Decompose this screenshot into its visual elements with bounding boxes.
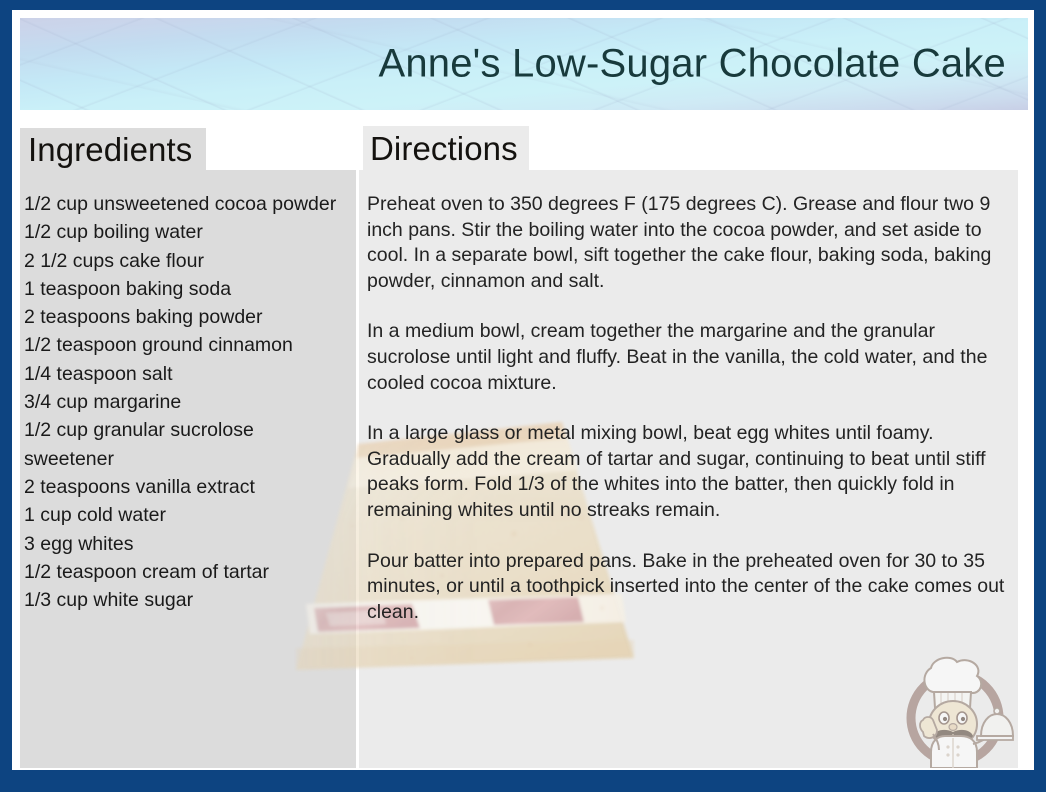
direction-step: Pour batter into prepared pans. Bake in … (367, 549, 1015, 626)
directions-header-tab: Directions (363, 126, 529, 170)
directions-steps: Preheat oven to 350 degrees F (175 degre… (367, 192, 1015, 625)
directions-heading: Directions (370, 132, 518, 165)
ingredient-item: 2 teaspoons vanilla extract (24, 473, 342, 501)
page-title: Anne's Low-Sugar Chocolate Cake (378, 42, 1006, 87)
ingredient-item: 1/4 teaspoon salt (24, 360, 342, 388)
direction-step: In a large glass or metal mixing bowl, b… (367, 421, 1015, 523)
ingredient-item: 1/2 cup unsweetened cocoa powder (24, 190, 342, 218)
ingredient-item: 1 teaspoon baking soda (24, 275, 342, 303)
ingredient-item: 1/2 cup granular sucrolose sweetener (24, 416, 342, 473)
ingredient-item: 1/2 teaspoon cream of tartar (24, 558, 342, 586)
ingredient-item: 1/2 teaspoon ground cinnamon (24, 331, 342, 359)
ingredients-list: 1/2 cup unsweetened cocoa powder1/2 cup … (24, 190, 342, 614)
title-banner: Anne's Low-Sugar Chocolate Cake (20, 18, 1028, 110)
ingredient-item: 1/3 cup white sugar (24, 586, 342, 614)
ingredient-item: 2 teaspoons baking powder (24, 303, 342, 331)
ingredient-item: 3 egg whites (24, 530, 342, 558)
page-frame: Anne's Low-Sugar Chocolate Cake Ingredie… (0, 0, 1046, 792)
ingredients-heading: Ingredients (28, 133, 192, 166)
ingredient-item: 1 cup cold water (24, 501, 342, 529)
ingredient-item: 2 1/2 cups cake flour (24, 247, 342, 275)
direction-step: Preheat oven to 350 degrees F (175 degre… (367, 192, 1015, 294)
ingredient-item: 3/4 cup margarine (24, 388, 342, 416)
ingredients-header-tab: Ingredients (20, 128, 206, 170)
ingredient-item: 1/2 cup boiling water (24, 218, 342, 246)
direction-step: In a medium bowl, cream together the mar… (367, 319, 1015, 396)
